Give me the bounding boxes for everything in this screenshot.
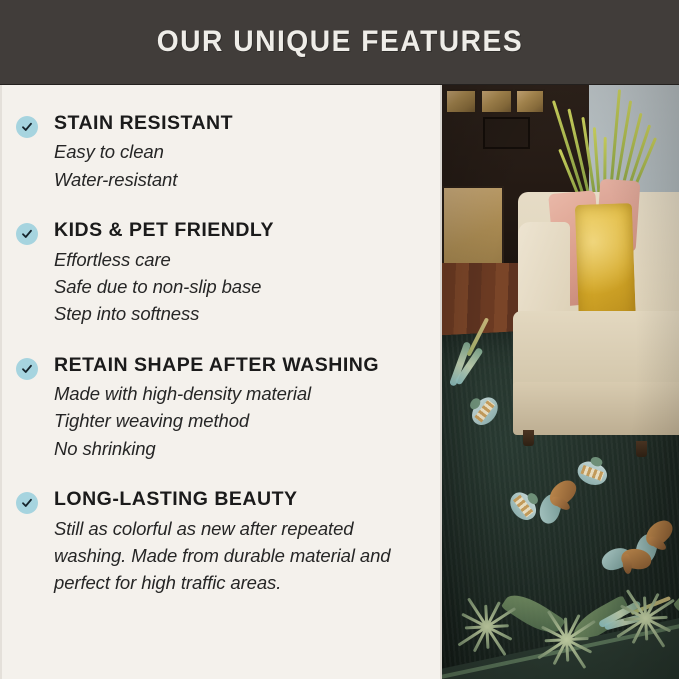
header-banner: OUR UNIQUE FEATURES [0,0,679,85]
stone-panel [515,89,544,114]
feature-title: STAIN RESISTANT [54,111,233,135]
feature-line: Effortless care [54,246,274,273]
rug-starburst-motifs [440,594,679,679]
feature-item: KIDS & PET FRIENDLY Effortless care Safe… [16,218,426,328]
feature-title: KIDS & PET FRIENDLY [54,218,274,242]
feature-item: RETAIN SHAPE AFTER WASHING Made with hig… [16,353,426,463]
feature-line: Easy to clean [54,138,233,165]
sofa-leg [523,430,534,446]
features-infographic: OUR UNIQUE FEATURES STAIN RESISTANT Easy… [0,0,679,679]
room-scene [442,85,679,679]
moth-motif [599,545,654,580]
feature-line: Water-resistant [54,166,233,193]
cabinet-door [483,117,530,149]
feature-text: RETAIN SHAPE AFTER WASHING Made with hig… [38,353,379,463]
feature-title: LONG-LASTING BEAUTY [54,487,426,511]
feature-line: Made with high-density material [54,380,379,407]
check-circle-icon [16,116,38,138]
check-circle-icon [16,223,38,245]
feature-paragraph: Still as colorful as new after repeated … [54,515,426,597]
sofa-base [513,382,679,435]
sofa-leg [636,441,647,457]
check-circle-icon [16,358,38,380]
feature-item: STAIN RESISTANT Easy to clean Water-resi… [16,111,426,193]
feature-text: STAIN RESISTANT Easy to clean Water-resi… [38,111,233,193]
feature-text: LONG-LASTING BEAUTY Still as colorful as… [38,487,426,597]
feature-line: Safe due to non-slip base [54,273,274,300]
feature-line: Tighter weaving method [54,407,379,434]
page-title: OUR UNIQUE FEATURES [156,25,522,59]
feature-line: Step into softness [54,300,274,327]
feature-item: LONG-LASTING BEAUTY Still as colorful as… [16,487,426,597]
content-split: STAIN RESISTANT Easy to clean Water-resi… [0,85,679,679]
stone-panel [480,89,512,114]
feature-line: No shrinking [54,435,379,462]
check-circle-icon [16,492,38,514]
features-panel: STAIN RESISTANT Easy to clean Water-resi… [0,85,440,679]
room-photo [440,85,679,679]
feature-title: RETAIN SHAPE AFTER WASHING [54,353,379,377]
stone-panel [445,89,477,114]
feature-text: KIDS & PET FRIENDLY Effortless care Safe… [38,218,274,328]
